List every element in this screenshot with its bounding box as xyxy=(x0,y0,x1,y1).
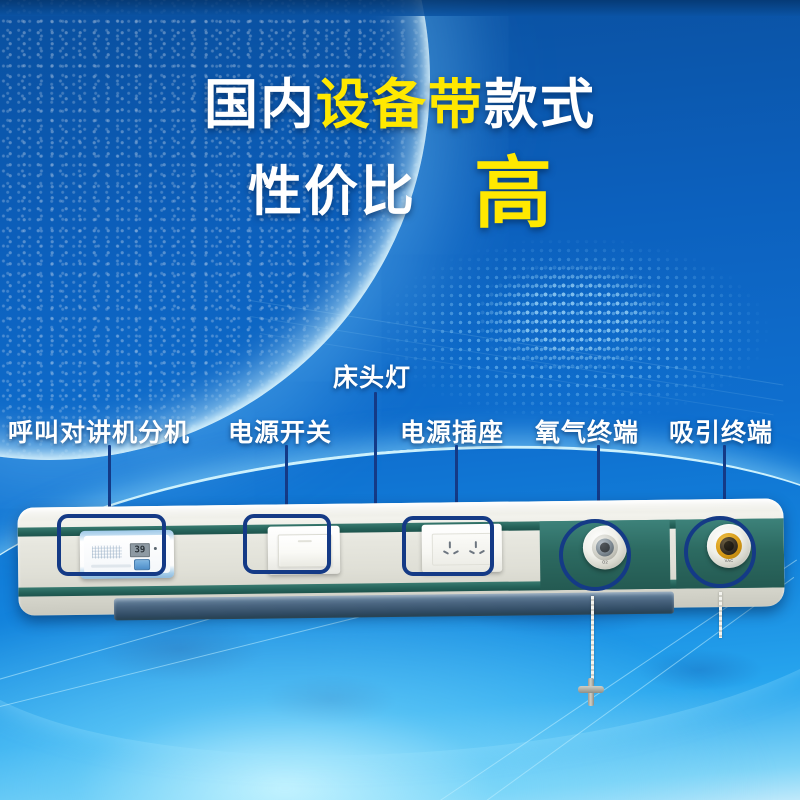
socket-pin-icon xyxy=(453,550,459,555)
speaker-grille-icon xyxy=(92,545,122,558)
top-edge-shade xyxy=(0,0,800,16)
socket-faceplate xyxy=(432,533,494,566)
power-switch-device[interactable] xyxy=(268,526,341,575)
intercom-slot xyxy=(91,564,131,567)
intercom-call-button[interactable] xyxy=(134,559,150,570)
bed-head-unit: 39 xyxy=(18,495,784,625)
nurse-call-intercom-device[interactable]: 39 xyxy=(80,530,175,579)
terminal-hole-icon xyxy=(724,541,734,551)
oxygen-hose-cord xyxy=(591,596,594,684)
oxygen-terminal-port[interactable]: O2 xyxy=(583,525,628,570)
headline-seg-3: 款式 xyxy=(484,75,596,135)
suction-terminal-port[interactable]: VAC xyxy=(707,524,752,569)
socket-pin-icon xyxy=(479,550,485,555)
headline-seg-4: 性价比 xyxy=(248,162,416,222)
callout-label-oxygen-terminal: 氧气终端 xyxy=(535,413,639,449)
intercom-display: 39 xyxy=(130,543,150,557)
oxygen-terminal-marking: O2 xyxy=(583,559,627,565)
rocker-switch-button[interactable] xyxy=(278,534,332,568)
headline-seg-2: 设备带 xyxy=(316,75,484,135)
callout-label-nurse-call-intercom: 呼叫对讲机分机 xyxy=(8,413,190,449)
terminal-hole-icon xyxy=(600,542,610,552)
switch-marking xyxy=(298,540,312,542)
intercom-faceplate: 39 xyxy=(84,535,170,574)
suction-terminal-marking: VAC xyxy=(707,558,751,564)
suction-hose-cord xyxy=(719,592,722,638)
panel-highlight xyxy=(17,498,783,519)
promo-banner: 国内设备带款式 性价比高 呼叫对讲机分机 电源开关 床头灯 电源插座 氧气终端 … xyxy=(0,0,800,800)
headline-line-2: 性价比高 xyxy=(0,154,800,232)
power-socket-device[interactable] xyxy=(422,524,503,573)
socket-pin-icon xyxy=(449,541,451,548)
oxygen-connector-fitting xyxy=(578,678,604,706)
callout-label-bed-lamp: 床头灯 xyxy=(333,358,411,394)
socket-pin-icon xyxy=(475,541,477,548)
callout-label-power-socket: 电源插座 xyxy=(400,413,504,449)
headline-line-1: 国内设备带款式 xyxy=(0,78,800,132)
headline-seg-1: 国内 xyxy=(204,75,316,135)
headline-block: 国内设备带款式 性价比高 xyxy=(0,78,800,232)
headline-seg-5: 高 xyxy=(474,149,552,237)
socket-pin-icon xyxy=(469,550,475,555)
socket-pin-icon xyxy=(443,550,449,555)
callout-label-power-switch: 电源开关 xyxy=(228,413,332,449)
status-led-icon xyxy=(154,547,157,550)
callout-label-suction-terminal: 吸引终端 xyxy=(669,413,773,449)
